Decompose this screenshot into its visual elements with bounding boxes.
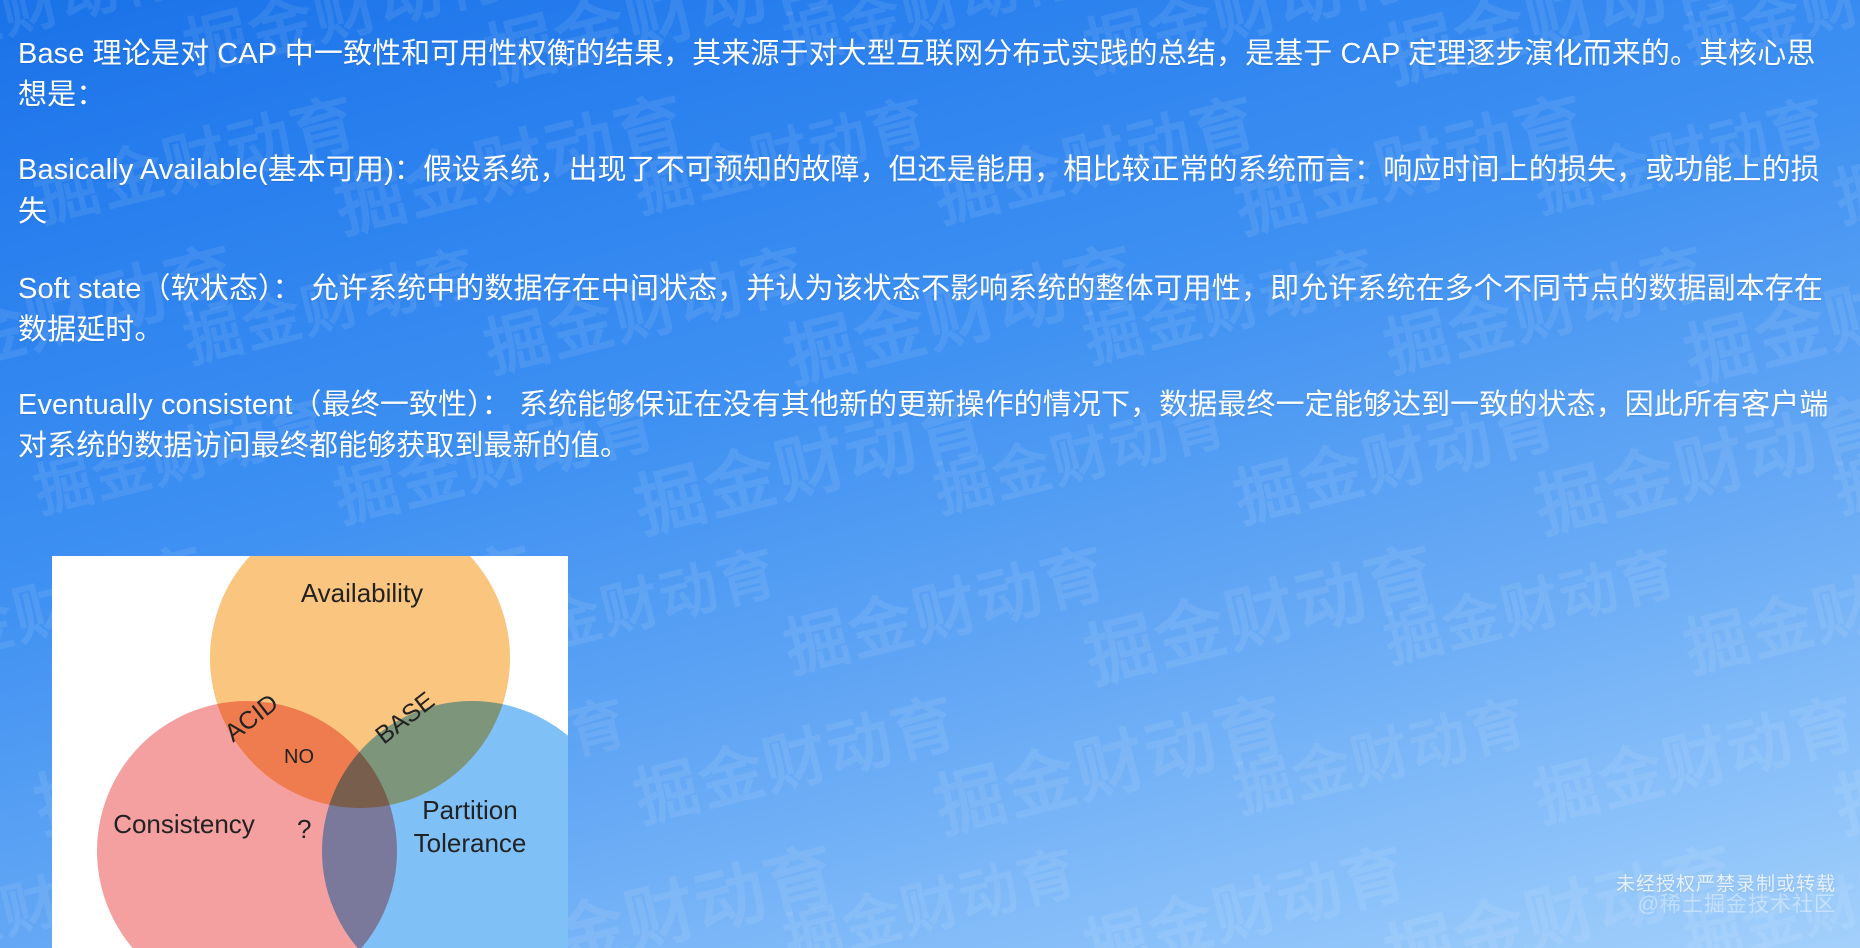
cap-venn-diagram-image: Availability Consistency Partition Toler…	[52, 556, 568, 948]
tiled-watermark-text: 掘金财动育	[923, 668, 1297, 853]
tiled-watermark-text: 掘金财动育	[1524, 671, 1860, 840]
slide-content: Base 理论是对 CAP 中一致性和可用性权衡的结果，其来源于对大型互联网分布…	[0, 0, 1860, 467]
venn-label-partition-line1: Partition	[370, 794, 568, 827]
paragraph-basically-available: Basically Available(基本可用)：假设系统，出现了不可预知的故…	[18, 150, 1838, 232]
tiled-watermark-text: 掘金财动育	[1373, 818, 1747, 948]
venn-label-question: ?	[297, 814, 311, 845]
paragraph-soft-state: Soft state（软状态）： 允许系统中的数据存在中间状态，并认为该状态不影…	[18, 269, 1838, 351]
paragraph-eventually-consistent: Eventually consistent（最终一致性）： 系统能够保证在没有其…	[18, 385, 1838, 467]
tiled-watermark-text: 掘金财动育	[1073, 518, 1447, 703]
venn-label-availability: Availability	[237, 578, 487, 609]
venn-label-partition-tolerance: Partition Tolerance	[370, 794, 568, 861]
tiled-watermark-text: 掘金财动育	[1674, 521, 1860, 690]
tiled-watermark-text: 掘金财动育	[1074, 821, 1416, 948]
tiled-watermark-text: 掘金财动育	[774, 825, 1085, 948]
tiled-watermark-text: 掘金财动育	[1224, 675, 1535, 829]
venn-label-consistency: Consistency	[74, 809, 294, 840]
venn-stage: Availability Consistency Partition Toler…	[52, 556, 568, 948]
copyright-notice: 未经授权严禁录制或转载	[1616, 869, 1836, 896]
tiled-watermark-text: 掘金财动育	[1374, 525, 1685, 679]
tiled-watermark-text: 掘金财动育	[1823, 668, 1860, 853]
venn-label-no: NO	[284, 746, 314, 769]
corner-watermark: 未经授权严禁录制或转载 @稀土掘金技术社区	[1616, 869, 1836, 918]
brand-watermark: @稀土掘金技术社区	[1616, 888, 1836, 918]
venn-label-partition-line2: Tolerance	[370, 827, 568, 860]
tiled-watermark-text: 掘金财动育	[624, 671, 966, 840]
tiled-watermark-text: 掘金财动育	[1674, 825, 1860, 948]
tiled-watermark-text: 掘金财动育	[774, 521, 1116, 690]
paragraph-intro: Base 理论是对 CAP 中一致性和可用性权衡的结果，其来源于对大型互联网分布…	[18, 34, 1838, 116]
